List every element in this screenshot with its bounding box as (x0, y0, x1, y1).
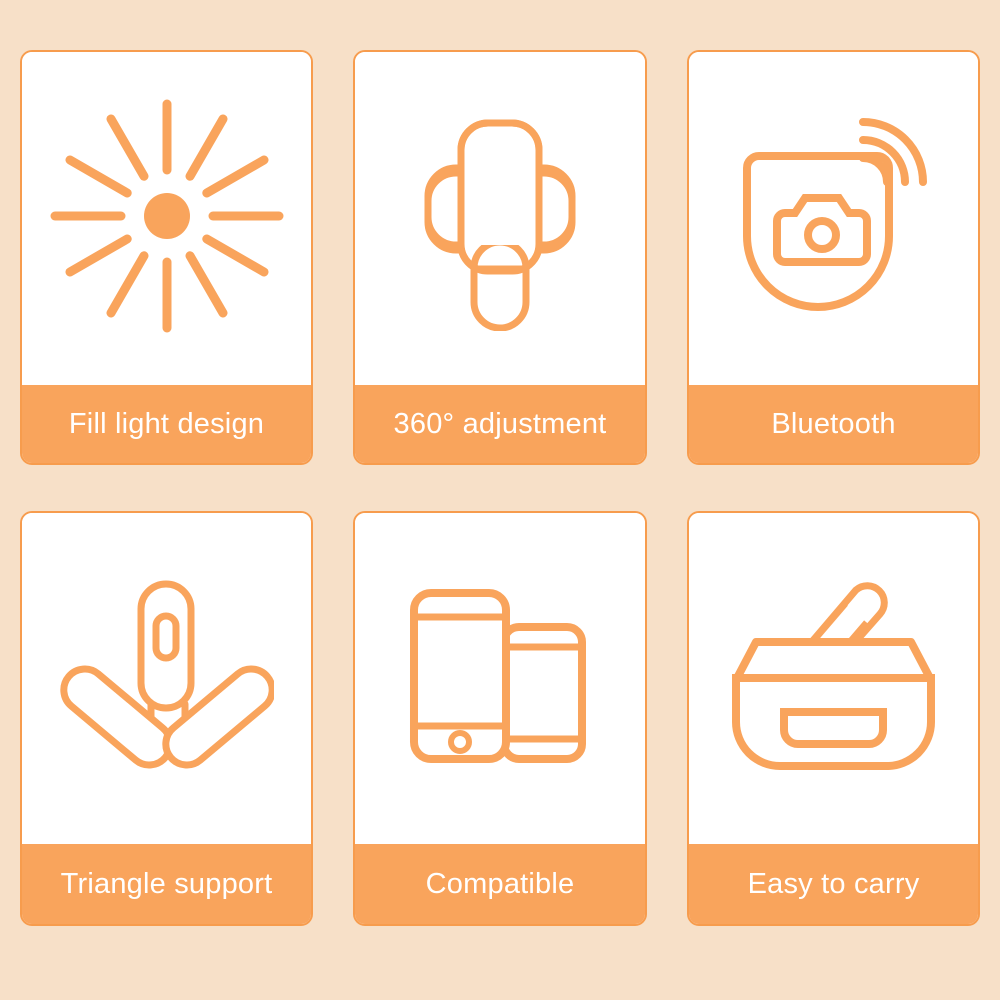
tripod-stand-icon (59, 568, 274, 783)
card-label-easy-to-carry: Easy to carry (748, 870, 920, 899)
wireless-camera-remote-icon (729, 118, 939, 313)
icon-area-bluetooth (689, 52, 978, 385)
card-label-bluetooth: Bluetooth (771, 410, 895, 439)
icon-area-360-adjustment (355, 52, 645, 385)
handle-pill (474, 242, 526, 328)
home-button (451, 733, 469, 751)
label-band-triangle-support: Triangle support (22, 844, 311, 924)
feature-card-fill-light-design[interactable]: Fill light design (20, 50, 313, 465)
label-band-360-adjustment: 360° adjustment (355, 385, 645, 463)
cross-light-head-icon (390, 101, 610, 331)
icon-area-fill-light-design (22, 52, 311, 385)
label-band-compatible: Compatible (355, 844, 645, 924)
sun-core (144, 193, 190, 239)
phone-small (504, 627, 582, 759)
two-phones-icon (400, 581, 600, 771)
card-label-fill-light-design: Fill light design (69, 410, 264, 439)
camera-lens (808, 221, 836, 249)
feature-grid: Fill light design (20, 50, 980, 926)
tripod-column-slot (156, 616, 176, 658)
feature-card-bluetooth[interactable]: Bluetooth (687, 50, 980, 465)
bag-front-pocket (784, 712, 883, 744)
feature-card-triangle-support[interactable]: Triangle support (20, 511, 313, 926)
feature-card-360-adjustment[interactable]: 360° adjustment (353, 50, 647, 465)
icon-area-easy-to-carry (689, 513, 978, 844)
feature-card-compatible[interactable]: Compatible (353, 511, 647, 926)
card-label-compatible: Compatible (426, 870, 575, 899)
sun-rays-icon (47, 96, 287, 336)
phone-large (414, 593, 506, 759)
icon-area-compatible (355, 513, 645, 844)
carry-bag-icon (726, 576, 941, 776)
card-label-360-adjustment: 360° adjustment (394, 410, 607, 439)
label-band-easy-to-carry: Easy to carry (689, 844, 978, 924)
card-label-triangle-support: Triangle support (61, 870, 273, 899)
label-band-fill-light-design: Fill light design (22, 385, 311, 463)
label-band-bluetooth: Bluetooth (689, 385, 978, 463)
feature-card-easy-to-carry[interactable]: Easy to carry (687, 511, 980, 926)
icon-area-triangle-support (22, 513, 311, 844)
